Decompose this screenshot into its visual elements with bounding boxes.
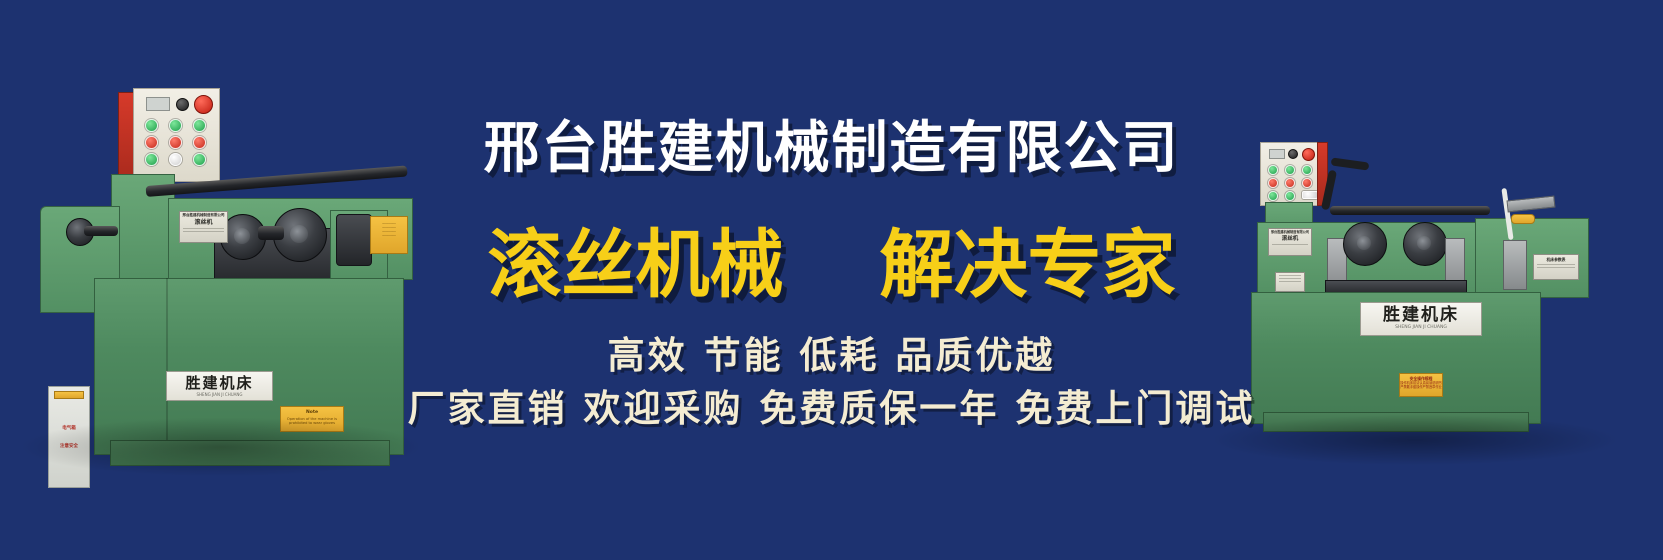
brand-plate-chinese-right: 胜建机床 bbox=[1383, 307, 1459, 324]
roller-hub-1-right bbox=[1357, 236, 1371, 250]
slogan-left: 滚丝机械 bbox=[488, 222, 784, 308]
machine-shadow-right bbox=[1215, 415, 1615, 465]
panel-button[interactable] bbox=[1302, 178, 1312, 188]
thread-rolling-machine-right: 机床参数表 邢台胜建机械制造有限公司 滚丝机 胜建机床 SHENG JIAN J… bbox=[1175, 130, 1645, 450]
panel-button[interactable] bbox=[169, 119, 182, 132]
roller-hub-2-right bbox=[1417, 236, 1431, 250]
control-panel-left bbox=[118, 88, 218, 180]
panel-button[interactable] bbox=[169, 153, 182, 166]
roller-spindle-left bbox=[258, 226, 284, 240]
brand-plate-left: 胜建机床 SHENG JIAN JI CHUANG bbox=[166, 371, 273, 401]
panel-display-right bbox=[1269, 149, 1285, 159]
panel-button[interactable] bbox=[169, 136, 182, 149]
electrical-box-top-strip bbox=[54, 391, 84, 399]
panel-face-right bbox=[1260, 142, 1320, 206]
panel-button[interactable] bbox=[1285, 191, 1295, 201]
panel-button[interactable] bbox=[145, 153, 158, 166]
brand-plate-chinese: 胜建机床 bbox=[185, 376, 253, 391]
motor-block-left bbox=[336, 214, 372, 266]
control-panel-right bbox=[1260, 142, 1326, 204]
panel-face-left bbox=[133, 88, 220, 182]
brand-plate-pinyin: SHENG JIAN JI CHUANG bbox=[197, 393, 243, 397]
cable-conduit-right bbox=[1331, 157, 1370, 170]
panel-button[interactable] bbox=[145, 136, 158, 149]
emergency-stop-button-right[interactable] bbox=[1302, 148, 1315, 161]
feed-tray-right bbox=[1507, 196, 1556, 213]
panel-button[interactable] bbox=[193, 153, 206, 166]
left-shaft bbox=[84, 226, 118, 236]
panel-button[interactable] bbox=[193, 136, 206, 149]
emergency-stop-button-left[interactable] bbox=[194, 95, 213, 114]
top-tie-bar-right bbox=[1330, 206, 1490, 215]
warning-label-line3: 严禁戴手套操作严禁违章作业 bbox=[1400, 386, 1442, 390]
panel-selector-knob-right[interactable] bbox=[1288, 149, 1298, 159]
panel-button[interactable] bbox=[1268, 178, 1278, 188]
panel-button[interactable] bbox=[1268, 191, 1278, 201]
slogan-right: 解决专家 bbox=[880, 222, 1176, 308]
roller-hub-1-left bbox=[234, 228, 250, 244]
panel-display-left bbox=[146, 97, 170, 111]
spec-plate-header-right: 邢台胜建机械制造有限公司 bbox=[1269, 231, 1311, 235]
spec-plate-left: 邢台胜建机械制造有限公司 滚丝机 bbox=[179, 211, 228, 243]
warning-label-title: Note bbox=[281, 410, 343, 415]
aux-plate-right: 机床参数表 bbox=[1533, 254, 1579, 280]
tooling-fixture-right bbox=[1503, 240, 1527, 290]
aux-spec-card-left: ________ ________ ________ ________ bbox=[370, 216, 408, 254]
panel-button[interactable] bbox=[1285, 165, 1295, 175]
warning-label-right: 安全操作规程 操作机床前请认真阅读说明书 严禁戴手套操作严禁违章作业 bbox=[1399, 373, 1443, 397]
brand-plate-right: 胜建机床 SHENG JIAN JI CHUANG bbox=[1360, 302, 1482, 336]
secondary-plate-right bbox=[1275, 272, 1305, 292]
spec-plate-model-right: 滚丝机 bbox=[1269, 236, 1311, 242]
panel-button[interactable] bbox=[193, 119, 206, 132]
spec-plate-model: 滚丝机 bbox=[180, 220, 227, 227]
brand-plate-pinyin-right: SHENG JIAN JI CHUANG bbox=[1395, 326, 1447, 331]
promotional-banner: 邢台胜建机械制造有限公司 滚丝机 胜建机床 SHENG JIAN JI CHUA… bbox=[0, 0, 1663, 560]
roller-hub-2-left bbox=[290, 225, 308, 243]
panel-selector-knob-left[interactable] bbox=[176, 98, 189, 111]
spec-plate-header: 邢台胜建机械制造有限公司 bbox=[180, 214, 227, 218]
panel-button[interactable] bbox=[1268, 165, 1278, 175]
aux-plate-line1: 机床参数表 bbox=[1534, 258, 1578, 262]
machine-shadow-left bbox=[23, 418, 418, 476]
thread-rolling-machine-left: 邢台胜建机械制造有限公司 滚丝机 胜建机床 SHENG JIAN JI CHUA… bbox=[18, 88, 418, 473]
panel-button[interactable] bbox=[1285, 178, 1295, 188]
spec-plate-right: 邢台胜建机械制造有限公司 滚丝机 bbox=[1268, 228, 1312, 256]
panel-button[interactable] bbox=[145, 119, 158, 132]
panel-button[interactable] bbox=[1302, 191, 1318, 199]
terminal-strip-right bbox=[1511, 214, 1535, 224]
panel-button[interactable] bbox=[1302, 165, 1312, 175]
